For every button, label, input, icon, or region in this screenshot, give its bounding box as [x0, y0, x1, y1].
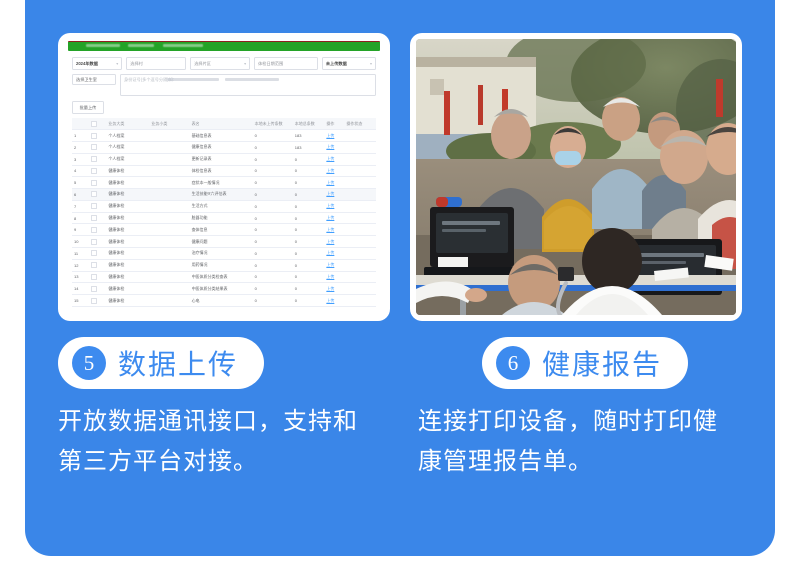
row-total-count: 0	[293, 165, 325, 177]
row-status	[344, 177, 376, 189]
upload-table: 业务大类 业务小类 表名 本地未上传条数 本地总条数 操作 操作状态 1	[72, 118, 376, 307]
upload-link-label: 上传	[326, 227, 334, 232]
row-checkbox-cell[interactable]	[89, 200, 106, 212]
upload-status-select[interactable]: 未上传数据 ▾	[322, 57, 376, 70]
row-table-name: 查体信息	[190, 224, 253, 236]
row-pending-count: 0	[253, 295, 293, 307]
district-select[interactable]: 选择片区 ▾	[190, 57, 250, 70]
row-status	[344, 141, 376, 153]
app-title-bar-text-2	[128, 44, 154, 47]
checkbox-icon[interactable]	[91, 262, 97, 268]
upload-link-label: 上传	[326, 239, 334, 244]
row-category: 健康体检	[106, 295, 149, 307]
row-checkbox-cell[interactable]	[89, 177, 106, 189]
row-index: 15	[72, 295, 89, 307]
row-subcategory	[149, 200, 189, 212]
row-checkbox-cell[interactable]	[89, 259, 106, 271]
row-subcategory	[149, 153, 189, 165]
row-table-name: 治疗情况	[190, 248, 253, 260]
row-index: 11	[72, 248, 89, 260]
upload-link-label: 上传	[326, 203, 334, 208]
section-5-body-line-2: 第三方平台对接。	[58, 442, 418, 482]
upload-link-label: 上传	[326, 168, 334, 173]
table-row[interactable]: 7 健康体检 生活方式 0 0 上传	[72, 200, 376, 212]
bulk-upload-label: 批量上传	[80, 105, 97, 111]
row-status	[344, 271, 376, 283]
village-select[interactable]: 选择村	[126, 57, 186, 70]
checkbox-icon[interactable]	[91, 180, 97, 186]
row-status	[344, 200, 376, 212]
upload-status-value: 未上传数据	[326, 61, 347, 67]
col-pending-count: 本地未上传条数	[253, 118, 293, 130]
row-status	[344, 248, 376, 260]
table-row[interactable]: 3 个人档案 更新记录表 0 0 上传	[72, 153, 376, 165]
row-upload-link[interactable]: 上传	[324, 259, 344, 271]
row-status	[344, 236, 376, 248]
row-subcategory	[149, 248, 189, 260]
row-pending-count: 0	[253, 153, 293, 165]
row-subcategory	[149, 295, 189, 307]
checkbox-icon[interactable]	[91, 133, 97, 139]
step-number-badge: 5	[72, 346, 106, 380]
row-index: 5	[72, 177, 89, 189]
table-row[interactable]: 14 健康体检 中医体质分类结果表 0 0 上传	[72, 283, 376, 295]
row-upload-link[interactable]: 上传	[324, 189, 344, 201]
row-checkbox-cell[interactable]	[89, 153, 106, 165]
idcard-text-blur-1	[167, 78, 219, 81]
village-select-value: 选择村	[130, 61, 143, 67]
headings-row: 5 数据上传 6 健康报告	[58, 337, 742, 389]
year-select[interactable]: 2024年数据 ▾	[72, 57, 122, 70]
row-table-name: 体检信息表	[190, 165, 253, 177]
row-total-count: 0	[293, 283, 325, 295]
section-6-body: 连接打印设备，随时打印健 康管理报告单。	[418, 402, 758, 482]
row-checkbox-cell[interactable]	[89, 271, 106, 283]
table-row[interactable]: 5 健康体检 症状本一般情况 0 0 上传	[72, 177, 376, 189]
row-subcategory	[149, 177, 189, 189]
checkbox-icon[interactable]	[91, 121, 97, 127]
checkbox-icon[interactable]	[91, 215, 97, 221]
row-table-name: 心电	[190, 295, 253, 307]
table-row[interactable]: 10 健康体检 健康问题 0 0 上传	[72, 236, 376, 248]
body-text-row: 开放数据通讯接口，支持和 第三方平台对接。 连接打印设备，随时打印健 康管理报告…	[58, 402, 758, 482]
col-table-name: 表名	[190, 118, 253, 130]
row-index: 2	[72, 141, 89, 153]
row-status	[344, 165, 376, 177]
checkbox-icon[interactable]	[91, 203, 97, 209]
row-pending-count: 0	[253, 212, 293, 224]
row-table-name: 中医体质分类检查表	[190, 271, 253, 283]
row-total-count: 0	[293, 236, 325, 248]
row-checkbox-cell[interactable]	[89, 141, 106, 153]
row-pending-count: 0	[253, 259, 293, 271]
row-status	[344, 130, 376, 142]
row-status	[344, 224, 376, 236]
chevron-down-icon: ▾	[244, 61, 246, 66]
row-upload-link[interactable]: 上传	[324, 165, 344, 177]
row-category: 健康体检	[106, 224, 149, 236]
row-category: 健康体检	[106, 236, 149, 248]
date-range-input[interactable]: 体检日期范围	[254, 57, 318, 70]
chevron-down-icon: ▾	[116, 61, 118, 66]
app-title-bar	[68, 41, 380, 51]
table-row[interactable]: 13 健康体检 中医体质分类检查表 0 0 上传	[72, 271, 376, 283]
row-category: 健康体检	[106, 283, 149, 295]
row-status	[344, 189, 376, 201]
table-row[interactable]: 6 健康体检 生活技能ण六评估表 0 0 上传	[72, 189, 376, 201]
row-checkbox-cell[interactable]	[89, 283, 106, 295]
row-total-count: 0	[293, 200, 325, 212]
row-checkbox-cell[interactable]	[89, 224, 106, 236]
col-total-count: 本地总条数	[293, 118, 325, 130]
row-index: 7	[72, 200, 89, 212]
col-subcategory: 业务小类	[149, 118, 189, 130]
row-total-count: 0	[293, 295, 325, 307]
row-table-name: 用药情况	[190, 259, 253, 271]
clinic-select[interactable]: 选择卫生室	[72, 74, 116, 85]
table-row[interactable]: 1 个人档案 基础信息表 0 183 上传	[72, 130, 376, 142]
upload-link-label: 上传	[326, 298, 334, 303]
row-index: 1	[72, 130, 89, 142]
row-upload-link[interactable]: 上传	[324, 271, 344, 283]
row-upload-link[interactable]: 上传	[324, 141, 344, 153]
row-table-name: 脏器功能	[190, 212, 253, 224]
cards-row: 2024年数据 ▾ 选择村 选择片区 ▾ 体检日期范围	[58, 33, 742, 321]
row-total-count: 0	[293, 153, 325, 165]
row-category: 个人档案	[106, 153, 149, 165]
row-index: 13	[72, 271, 89, 283]
row-index: 8	[72, 212, 89, 224]
app-title-bar-text-1	[86, 44, 120, 47]
village-health-screening-photo	[416, 39, 736, 315]
row-checkbox-cell[interactable]	[89, 236, 106, 248]
col-index	[72, 118, 89, 130]
table-row[interactable]: 4 健康体检 体检信息表 0 0 上传	[72, 165, 376, 177]
row-total-count: 0	[293, 224, 325, 236]
row-subcategory	[149, 271, 189, 283]
row-table-name: 生活方式	[190, 200, 253, 212]
checkbox-icon[interactable]	[91, 250, 97, 256]
row-subcategory	[149, 259, 189, 271]
row-category: 个人档案	[106, 141, 149, 153]
row-total-count: 0	[293, 189, 325, 201]
district-select-value: 选择片区	[194, 61, 211, 67]
row-index: 9	[72, 224, 89, 236]
row-checkbox-cell[interactable]	[89, 248, 106, 260]
checkbox-icon[interactable]	[91, 168, 97, 174]
blue-panel: 2024年数据 ▾ 选择村 选择片区 ▾ 体检日期范围	[25, 0, 775, 556]
row-subcategory	[149, 224, 189, 236]
row-total-count: 183	[293, 130, 325, 142]
row-total-count: 0	[293, 212, 325, 224]
clinic-select-label: 选择卫生室	[76, 77, 97, 83]
row-status	[344, 259, 376, 271]
row-index: 4	[72, 165, 89, 177]
idcard-textarea[interactable]: 身份证号(多个逗号分隔)如:	[120, 74, 376, 96]
row-category: 健康体检	[106, 165, 149, 177]
row-index: 10	[72, 236, 89, 248]
table-header-row: 业务大类 业务小类 表名 本地未上传条数 本地总条数 操作 操作状态	[72, 118, 376, 130]
checkbox-icon[interactable]	[91, 227, 97, 233]
upload-table-body: 1 个人档案 基础信息表 0 183 上传 2	[72, 130, 376, 307]
upload-link-label: 上传	[326, 215, 334, 220]
upload-link-label: 上传	[326, 250, 334, 255]
row-category: 健康体检	[106, 248, 149, 260]
row-table-name: 健康问题	[190, 236, 253, 248]
chevron-down-icon: ▾	[370, 61, 372, 66]
section-5-body: 开放数据通讯接口，支持和 第三方平台对接。	[58, 402, 418, 482]
col-category: 业务大类	[106, 118, 149, 130]
row-total-count: 0	[293, 259, 325, 271]
table-row[interactable]: 12 健康体检 用药情况 0 0 上传	[72, 259, 376, 271]
row-index: 3	[72, 153, 89, 165]
row-category: 健康体检	[106, 189, 149, 201]
row-checkbox-cell[interactable]	[89, 189, 106, 201]
table-row[interactable]: 11 健康体检 治疗情况 0 0 上传	[72, 248, 376, 260]
row-checkbox-cell[interactable]	[89, 130, 106, 142]
bulk-upload-button[interactable]: 批量上传	[72, 101, 104, 114]
row-upload-link[interactable]: 上传	[324, 200, 344, 212]
col-status: 操作状态	[344, 118, 376, 130]
row-upload-link[interactable]: 上传	[324, 295, 344, 307]
col-action: 操作	[324, 118, 344, 130]
checkbox-icon[interactable]	[91, 286, 97, 292]
app-title-bar-text-3	[163, 44, 203, 47]
row-subcategory	[149, 165, 189, 177]
table-row[interactable]: 15 健康体检 心电 0 0 上传	[72, 295, 376, 307]
checkbox-icon[interactable]	[91, 239, 97, 245]
row-category: 个人档案	[106, 130, 149, 142]
row-subcategory	[149, 189, 189, 201]
row-pending-count: 0	[253, 141, 293, 153]
upload-link-label: 上传	[326, 274, 334, 279]
row-checkbox-cell[interactable]	[89, 212, 106, 224]
section-5-heading: 5 数据上传	[58, 337, 264, 389]
section-6-body-line-2: 康管理报告单。	[418, 442, 758, 482]
row-upload-link[interactable]: 上传	[324, 177, 344, 189]
checkbox-icon[interactable]	[91, 298, 97, 304]
row-upload-link[interactable]: 上传	[324, 130, 344, 142]
checkbox-icon[interactable]	[91, 274, 97, 280]
upload-link-label: 上传	[326, 262, 334, 267]
row-upload-link[interactable]: 上传	[324, 236, 344, 248]
filter-row: 2024年数据 ▾ 选择村 选择片区 ▾ 体检日期范围	[72, 57, 376, 70]
idcard-text-blur-2	[225, 78, 279, 81]
row-pending-count: 0	[253, 248, 293, 260]
row-subcategory	[149, 130, 189, 142]
row-pending-count: 0	[253, 224, 293, 236]
row-upload-link[interactable]: 上传	[324, 248, 344, 260]
upload-management-app: 2024年数据 ▾ 选择村 选择片区 ▾ 体检日期范围	[64, 39, 384, 315]
row-checkbox-cell[interactable]	[89, 295, 106, 307]
row-table-name: 更新记录表	[190, 153, 253, 165]
row-pending-count: 0	[253, 200, 293, 212]
row-total-count: 183	[293, 141, 325, 153]
upload-link-label: 上传	[326, 156, 334, 161]
row-pending-count: 0	[253, 177, 293, 189]
section-6-title: 健康报告	[542, 343, 662, 383]
photo-illustration	[416, 39, 736, 315]
section-5-body-line-1: 开放数据通讯接口，支持和	[58, 402, 418, 442]
row-pending-count: 0	[253, 189, 293, 201]
row-table-name: 症状本一般情况	[190, 177, 253, 189]
row-category: 健康体检	[106, 259, 149, 271]
upload-link-label: 上传	[326, 144, 334, 149]
year-select-value: 2024年数据	[76, 61, 98, 67]
data-upload-screenshot-card: 2024年数据 ▾ 选择村 选择片区 ▾ 体检日期范围	[58, 33, 390, 321]
row-pending-count: 0	[253, 236, 293, 248]
row-table-name: 基础信息表	[190, 130, 253, 142]
row-status	[344, 295, 376, 307]
row-pending-count: 0	[253, 271, 293, 283]
row-status	[344, 153, 376, 165]
row-category: 健康体检	[106, 271, 149, 283]
step-number-badge: 6	[496, 346, 530, 380]
upload-link-label: 上传	[326, 133, 334, 138]
section-6-body-line-1: 连接打印设备，随时打印健	[418, 402, 758, 442]
checkbox-icon[interactable]	[91, 156, 97, 162]
checkbox-icon[interactable]	[91, 191, 97, 197]
row-upload-link[interactable]: 上传	[324, 283, 344, 295]
row-total-count: 0	[293, 177, 325, 189]
row-upload-link[interactable]: 上传	[324, 224, 344, 236]
row-subcategory	[149, 236, 189, 248]
row-checkbox-cell[interactable]	[89, 165, 106, 177]
section-5-title: 数据上传	[118, 343, 238, 383]
row-total-count: 0	[293, 248, 325, 260]
row-total-count: 0	[293, 271, 325, 283]
table-row[interactable]: 9 健康体检 查体信息 0 0 上传	[72, 224, 376, 236]
row-index: 6	[72, 189, 89, 201]
checkbox-icon[interactable]	[91, 144, 97, 150]
row-index: 12	[72, 259, 89, 271]
row-category: 健康体检	[106, 212, 149, 224]
row-category: 健康体检	[106, 200, 149, 212]
upload-link-label: 上传	[326, 286, 334, 291]
row-pending-count: 0	[253, 130, 293, 142]
row-subcategory	[149, 212, 189, 224]
date-range-value: 体检日期范围	[258, 61, 283, 67]
row-table-name: 生活技能ण六评估表	[190, 189, 253, 201]
row-pending-count: 0	[253, 165, 293, 177]
row-subcategory	[149, 283, 189, 295]
table-row[interactable]: 8 健康体检 脏器功能 0 0 上传	[72, 212, 376, 224]
row-category: 健康体检	[106, 177, 149, 189]
health-report-photo-card	[410, 33, 742, 321]
row-upload-link[interactable]: 上传	[324, 153, 344, 165]
table-row[interactable]: 2 个人档案 健康信息表 0 183 上传	[72, 141, 376, 153]
row-status	[344, 212, 376, 224]
row-status	[344, 283, 376, 295]
col-select-all[interactable]	[89, 118, 106, 130]
row-index: 14	[72, 283, 89, 295]
clinic-row: 选择卫生室 身份证号(多个逗号分隔)如:	[72, 74, 376, 96]
row-pending-count: 0	[253, 283, 293, 295]
row-upload-link[interactable]: 上传	[324, 212, 344, 224]
row-table-name: 健康信息表	[190, 141, 253, 153]
upload-link-label: 上传	[326, 191, 334, 196]
section-6-heading: 6 健康报告	[482, 337, 688, 389]
upload-link-label: 上传	[326, 180, 334, 185]
row-subcategory	[149, 141, 189, 153]
row-table-name: 中医体质分类结果表	[190, 283, 253, 295]
